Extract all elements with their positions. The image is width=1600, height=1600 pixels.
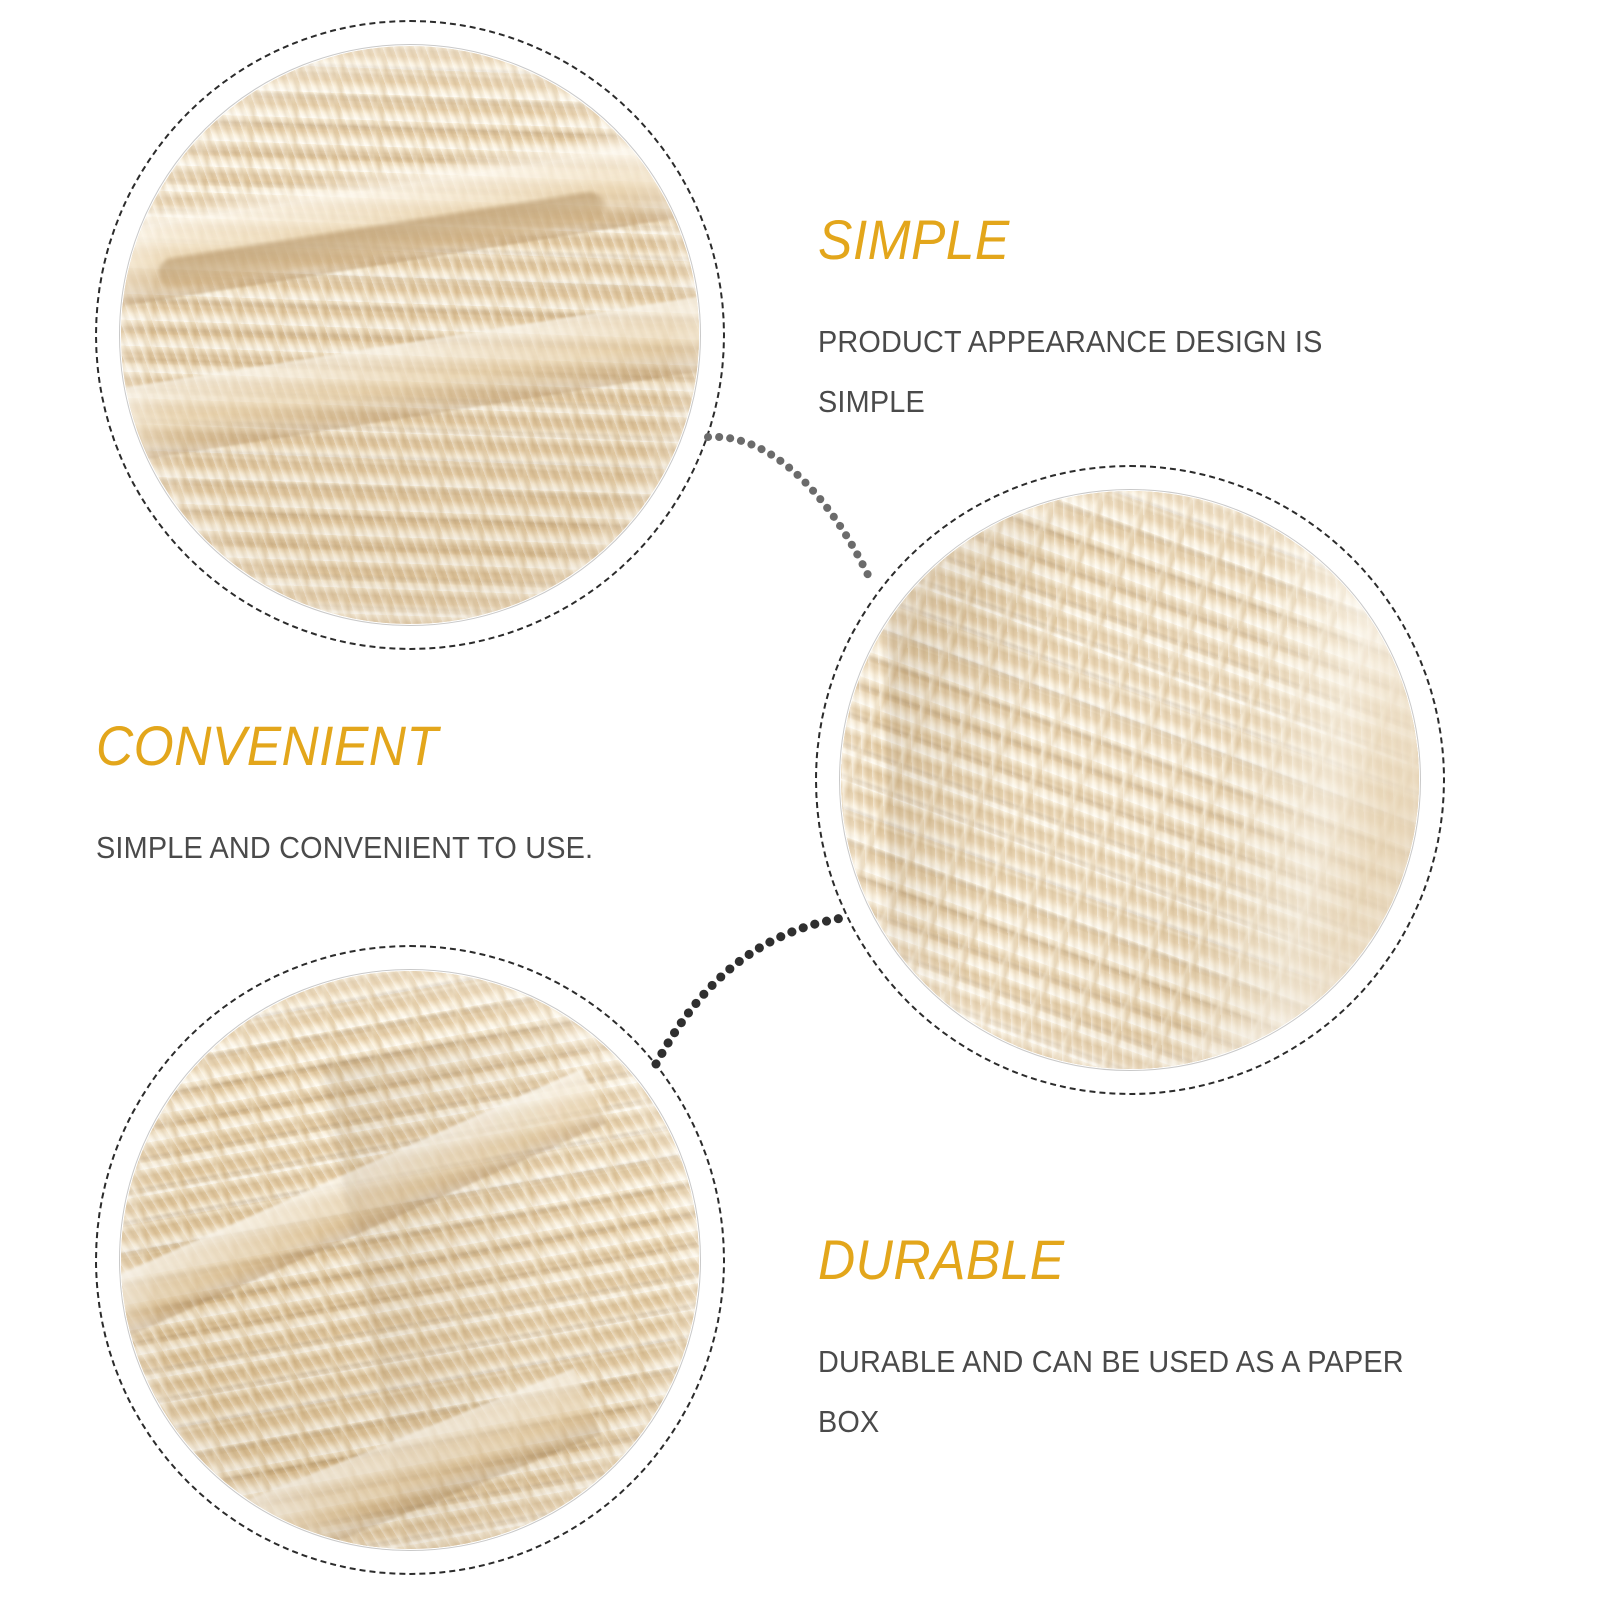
weave-shading-layer: [121, 971, 699, 1549]
feature-title-convenient: CONVENIENT: [96, 718, 758, 774]
weave-shading-layer: [841, 491, 1419, 1069]
photo-callout-inside: [815, 465, 1445, 1095]
basket-interior-image: [841, 491, 1419, 1069]
feature-desc-simple-line-2: SIMPLE: [818, 372, 1488, 432]
feature-desc-durable-line-2: BOX: [818, 1392, 1506, 1452]
photo-clip-inside: [841, 491, 1419, 1069]
photo-callout-lid: [95, 20, 725, 650]
feature-block-durable: DURABLE DURABLE AND CAN BE USED AS A PAP…: [818, 1232, 1558, 1453]
feature-title-simple: SIMPLE: [818, 212, 1480, 268]
infographic-page: SIMPLE PRODUCT APPEARANCE DESIGN IS SIMP…: [0, 0, 1600, 1600]
basket-open-image: [121, 971, 699, 1549]
photo-clip-lid: [121, 46, 699, 624]
photo-callout-open: [95, 945, 725, 1575]
weave-shading-layer: [121, 46, 699, 624]
feature-block-convenient: CONVENIENT SIMPLE AND CONVENIENT TO USE.: [96, 718, 816, 878]
feature-block-simple: SIMPLE PRODUCT APPEARANCE DESIGN IS SIMP…: [818, 212, 1538, 433]
photo-clip-open: [121, 971, 699, 1549]
feature-desc-convenient-line-1: SIMPLE AND CONVENIENT TO USE.: [96, 818, 766, 878]
feature-desc-simple-line-1: PRODUCT APPEARANCE DESIGN IS: [818, 312, 1488, 372]
feature-desc-durable-line-1: DURABLE AND CAN BE USED AS A PAPER: [818, 1332, 1506, 1392]
feature-title-durable: DURABLE: [818, 1232, 1499, 1288]
basket-lid-image: [121, 46, 699, 624]
